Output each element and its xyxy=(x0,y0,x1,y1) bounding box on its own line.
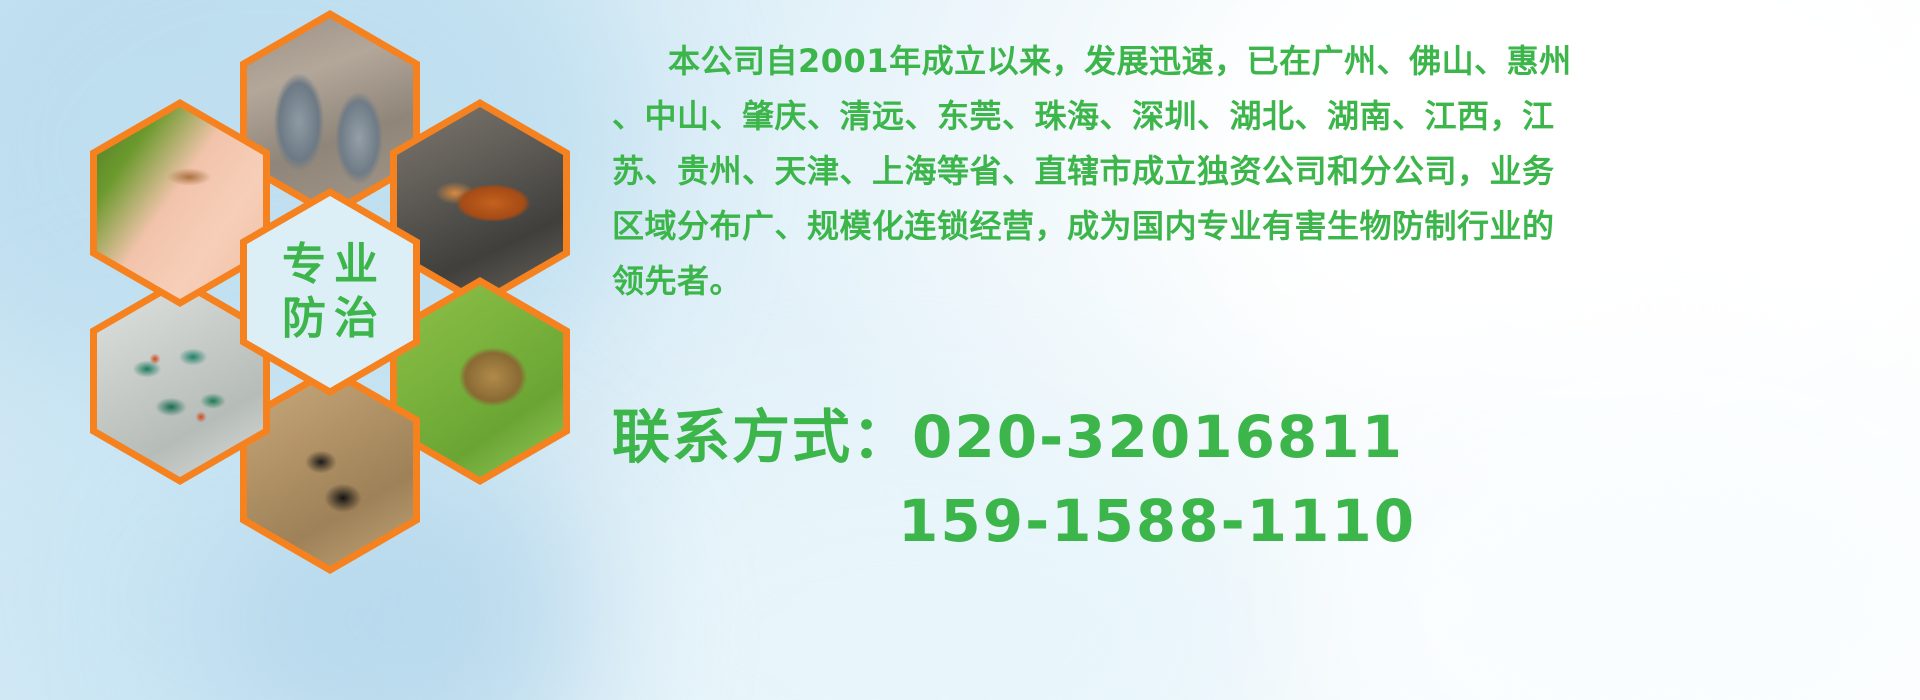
paragraph-line-3: 苏、贵州、天津、上海等省、直辖市成立独资公司和分公司，业务 xyxy=(612,144,1908,199)
paragraph-line-2: 、中山、肇庆、清远、东莞、珠海、深圳、湖北、湖南、江西，江 xyxy=(612,89,1908,144)
hex-slogan-clip: 专业 防治 xyxy=(247,196,413,388)
banner-canvas: 专业 防治 本公司自2001年成立以来，发展迅速，已在广州、佛山、惠州 、中山、… xyxy=(0,0,1920,700)
cockroach-photo xyxy=(397,107,563,299)
company-intro-paragraph: 本公司自2001年成立以来，发展迅速，已在广州、佛山、惠州 、中山、肇庆、清远、… xyxy=(612,34,1908,309)
mosquito-photo xyxy=(97,107,263,299)
rats-photo xyxy=(247,18,413,210)
flies-photo xyxy=(97,285,263,477)
paragraph-line-5: 领先者。 xyxy=(612,254,1908,309)
slogan-line-1: 专业 xyxy=(274,243,386,287)
slogan-text-block: 专业 防治 xyxy=(247,196,413,388)
slogan-line-2: 防治 xyxy=(274,297,386,341)
hex-photo-ant-clip xyxy=(247,374,413,566)
ant-photo xyxy=(247,374,413,566)
paragraph-line-1: 本公司自2001年成立以来，发展迅速，已在广州、佛山、惠州 xyxy=(612,34,1908,89)
hex-photo-flies-clip xyxy=(97,285,263,477)
honeycomb-logo: 专业 防治 xyxy=(84,6,584,566)
stink-bug-photo xyxy=(397,285,563,477)
paragraph-line-4: 区域分布广、规模化连锁经营，成为国内专业有害生物防制行业的 xyxy=(612,199,1908,254)
hex-photo-mosquito-clip xyxy=(97,107,263,299)
contact-mobile[interactable]: 159-1588-1110 xyxy=(612,479,1912,563)
hex-photo-cockroach-clip xyxy=(397,107,563,299)
hex-photo-rats-clip xyxy=(247,18,413,210)
contact-landline[interactable]: 联系方式：020-32016811 xyxy=(612,395,1912,479)
contact-block: 联系方式：020-32016811 159-1588-1110 xyxy=(612,395,1912,563)
hex-photo-stink-bug-clip xyxy=(397,285,563,477)
